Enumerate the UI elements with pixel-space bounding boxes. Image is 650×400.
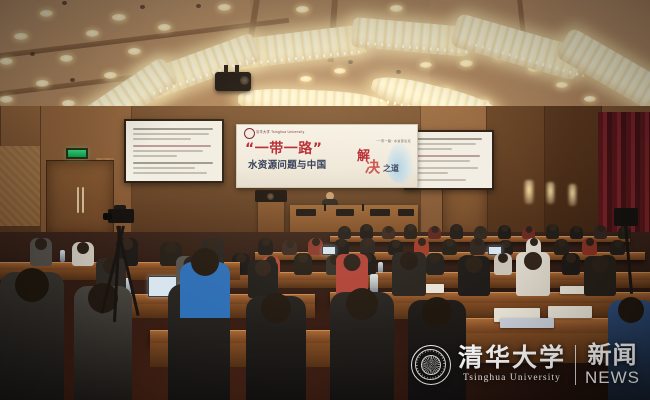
microphone — [362, 204, 364, 211]
attendee — [426, 253, 444, 275]
lectern — [258, 196, 284, 236]
attendee — [562, 253, 580, 275]
attendee — [308, 238, 323, 255]
banner-side-text: "一带一路" 水资源论坛 — [376, 139, 411, 143]
attendee — [450, 224, 463, 239]
attendee — [546, 224, 559, 239]
attendee — [442, 239, 457, 255]
camera-lens — [103, 213, 112, 220]
event-banner: 清华大学 Tsinghua University "一带一路" 水资源论坛 “一… — [236, 124, 418, 188]
attendee — [570, 226, 583, 239]
attendee — [404, 224, 417, 239]
name-placard — [336, 209, 354, 216]
watermark-divider — [575, 345, 576, 385]
document-stack — [500, 318, 554, 328]
attendee — [338, 226, 351, 239]
attendee — [428, 226, 441, 239]
tsinghua-seal-icon — [411, 345, 451, 385]
news-label-en: NEWS — [585, 369, 640, 386]
university-name-cn: 清华大学 — [458, 345, 566, 370]
ceiling-projector — [215, 72, 251, 91]
banner-org-text: 清华大学 Tsinghua University — [256, 129, 304, 134]
document — [560, 286, 586, 294]
news-mark: 新闻 NEWS — [585, 343, 640, 386]
name-placard — [370, 209, 390, 216]
attendee-foreground — [246, 296, 306, 400]
attendee — [458, 256, 490, 296]
attendee-foreground — [180, 262, 230, 318]
attendee — [610, 240, 625, 255]
exit-sign-glow — [68, 150, 86, 157]
attendee — [594, 225, 607, 239]
left-projection-screen — [124, 119, 224, 183]
document-stack — [548, 306, 592, 318]
news-label-cn: 新闻 — [588, 343, 638, 367]
wall-sconce — [524, 180, 534, 204]
lectern-speaker-icon — [267, 193, 274, 200]
attendee-foreground — [0, 272, 64, 400]
attendee — [360, 224, 373, 239]
seal-tick-ring — [416, 350, 445, 379]
tsinghua-university-mark: 清华大学 Tsinghua University — [411, 345, 566, 385]
door-handle[interactable] — [82, 187, 84, 213]
attendee — [382, 226, 395, 239]
wall-sconce — [546, 182, 555, 204]
head-table — [290, 205, 418, 235]
tsinghua-news-watermark: 清华大学 Tsinghua University 新闻 NEWS — [411, 343, 640, 386]
attendee — [294, 253, 312, 275]
attendee — [494, 253, 512, 275]
name-placard — [398, 209, 414, 216]
lectern-top-equipment — [255, 190, 287, 202]
university-name-block: 清华大学 Tsinghua University — [458, 345, 566, 384]
attendee — [582, 238, 597, 255]
university-name-en: Tsinghua University — [463, 374, 561, 384]
attendee — [72, 242, 94, 266]
attendee — [30, 238, 52, 266]
banner-tsinghua-seal-icon — [244, 128, 255, 139]
door-handle[interactable] — [77, 187, 79, 213]
water-bottle — [60, 250, 65, 262]
attendee — [584, 256, 616, 296]
banner-headline: “一带一路” — [245, 142, 365, 157]
banner-subheadline: 水资源问题与中国 — [248, 160, 383, 171]
banner-sub-accent: 决 — [365, 156, 380, 177]
attendee-foreground — [330, 292, 394, 400]
name-placard — [296, 209, 316, 216]
attendee — [334, 239, 349, 255]
conference-hall-photograph: 清华大学 Tsinghua University "一带一路" 水资源论坛 “一… — [0, 0, 650, 400]
microphone — [324, 204, 326, 211]
attendee — [392, 252, 426, 296]
banner-sub-tail: 之道 — [383, 163, 399, 174]
attendee — [258, 238, 273, 255]
attendee — [516, 252, 550, 296]
attendee — [470, 238, 485, 255]
laptop — [322, 246, 336, 255]
attendee — [498, 225, 511, 239]
hall-door-left[interactable] — [46, 160, 114, 236]
video-camera — [108, 205, 138, 227]
wall-sconce — [568, 184, 577, 206]
projector-lens — [240, 76, 249, 85]
exit-sign — [66, 148, 88, 159]
ceiling — [0, 0, 650, 122]
attendee — [282, 240, 297, 255]
water-bottle — [378, 262, 383, 273]
